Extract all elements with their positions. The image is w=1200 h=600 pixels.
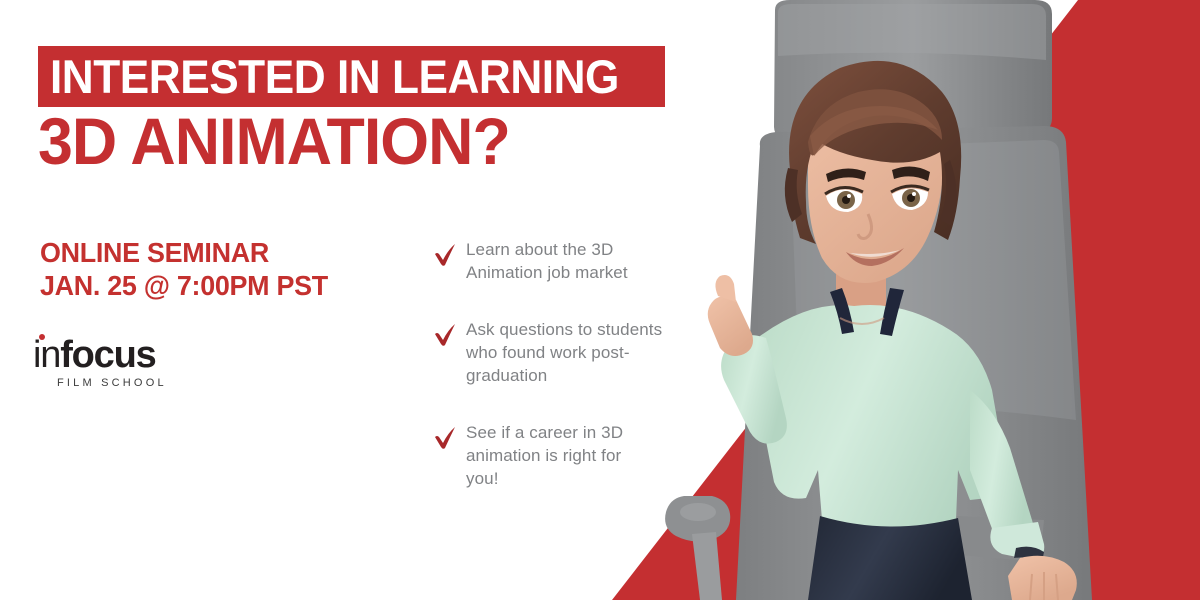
poster-content: INTERESTED IN LEARNING 3D ANIMATION? ONL…	[0, 0, 740, 600]
poster-canvas: INTERESTED IN LEARNING 3D ANIMATION? ONL…	[0, 0, 1200, 600]
infocus-film-school-logo: infocus FILM SCHOOL	[33, 336, 183, 389]
headline-line-1: INTERESTED IN LEARNING	[50, 53, 619, 100]
list-item-label: Ask questions to students who found work…	[466, 318, 662, 387]
list-item: See if a career in 3D animation is right…	[432, 421, 717, 490]
check-icon	[432, 425, 458, 451]
event-details: ONLINE SEMINAR JAN. 25 @ 7:00PM PST	[40, 236, 328, 302]
event-type: ONLINE SEMINAR	[40, 236, 328, 269]
list-item: Learn about the 3D Animation job market	[432, 238, 717, 284]
headline-line-2: 3D ANIMATION?	[38, 108, 510, 174]
list-item-label: See if a career in 3D animation is right…	[466, 421, 623, 490]
event-datetime: JAN. 25 @ 7:00PM PST	[40, 269, 328, 302]
logo-word-light: in	[33, 334, 60, 376]
logo-wordmark: infocus	[33, 336, 183, 374]
check-icon	[432, 322, 458, 348]
check-icon	[432, 242, 458, 268]
benefit-list: Learn about the 3D Animation job market …	[432, 238, 717, 490]
list-item-label: Learn about the 3D Animation job market	[466, 238, 628, 284]
list-item: Ask questions to students who found work…	[432, 318, 717, 387]
logo-word-bold: focus	[60, 334, 155, 376]
headline-banner: INTERESTED IN LEARNING	[38, 46, 665, 107]
logo-dot-icon	[39, 334, 45, 340]
logo-subtitle: FILM SCHOOL	[57, 377, 183, 389]
